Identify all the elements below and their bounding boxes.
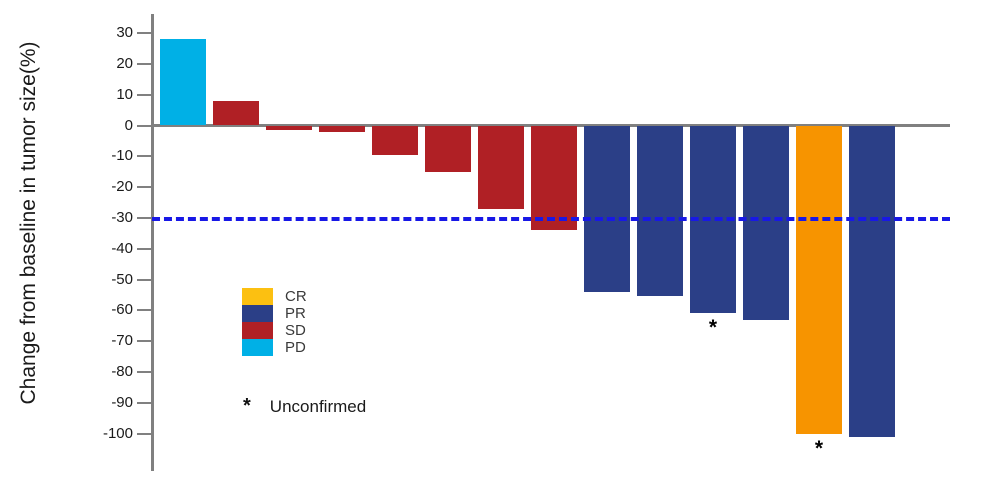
y-tick-mark bbox=[137, 340, 152, 342]
y-tick-mark bbox=[137, 217, 152, 219]
y-tick-mark bbox=[137, 279, 152, 281]
bar-sd-7 bbox=[478, 126, 524, 209]
bar-pd-1 bbox=[160, 39, 206, 125]
bar-pr-14 bbox=[849, 126, 895, 437]
y-tick-label: -90 bbox=[73, 395, 133, 410]
y-tick-label: -30 bbox=[73, 210, 133, 225]
y-tick-label: -40 bbox=[73, 241, 133, 256]
bar-cr-13 bbox=[796, 126, 842, 434]
bar-sd-2 bbox=[213, 101, 259, 126]
y-tick-label: 0 bbox=[73, 118, 133, 133]
y-tick-label: -10 bbox=[73, 148, 133, 163]
y-tick-label: 20 bbox=[73, 56, 133, 71]
legend-item-cr[interactable]: CR bbox=[242, 288, 307, 305]
footnote-label: Unconfirmed bbox=[270, 398, 366, 415]
legend-label-pd: PD bbox=[285, 340, 306, 355]
y-tick-label: 10 bbox=[73, 87, 133, 102]
y-tick-label: -100 bbox=[73, 426, 133, 441]
legend-swatch-pd bbox=[242, 339, 273, 356]
bar-sd-3 bbox=[266, 126, 312, 131]
y-tick-mark bbox=[137, 32, 152, 34]
legend-swatch-cr bbox=[242, 288, 273, 305]
legend-item-pd[interactable]: PD bbox=[242, 339, 307, 356]
bar-pr-9 bbox=[584, 126, 630, 292]
y-tick-mark bbox=[137, 125, 152, 127]
bar-sd-6 bbox=[425, 126, 471, 172]
legend-item-pr[interactable]: PR bbox=[242, 305, 307, 322]
y-tick-mark bbox=[137, 63, 152, 65]
bar-sd-4 bbox=[319, 126, 365, 132]
legend-swatch-sd bbox=[242, 322, 273, 339]
legend-label-pr: PR bbox=[285, 306, 306, 321]
legend: CRPRSDPD bbox=[242, 288, 307, 356]
legend-item-sd[interactable]: SD bbox=[242, 322, 307, 339]
legend-swatch-pr bbox=[242, 305, 273, 322]
y-tick-label: -60 bbox=[73, 302, 133, 317]
waterfall-chart-figure: Change from baseline in tumor size(%) 30… bbox=[0, 0, 981, 486]
reference-line-minus30 bbox=[152, 217, 950, 221]
bar-sd-5 bbox=[372, 126, 418, 155]
unconfirmed-asterisk-icon: * bbox=[703, 317, 723, 338]
legend-label-cr: CR bbox=[285, 289, 307, 304]
y-tick-mark bbox=[137, 155, 152, 157]
bar-pr-12 bbox=[743, 126, 789, 320]
unconfirmed-asterisk-icon: * bbox=[809, 438, 829, 459]
y-tick-mark bbox=[137, 248, 152, 250]
y-tick-mark bbox=[137, 94, 152, 96]
bar-pr-10 bbox=[637, 126, 683, 297]
y-tick-mark bbox=[137, 371, 152, 373]
y-tick-mark bbox=[137, 402, 152, 404]
legend-label-sd: SD bbox=[285, 323, 306, 338]
y-tick-mark bbox=[137, 433, 152, 435]
y-tick-mark bbox=[137, 186, 152, 188]
y-tick-label: -50 bbox=[73, 272, 133, 287]
footnote: * Unconfirmed bbox=[243, 396, 366, 416]
bar-sd-8 bbox=[531, 126, 577, 231]
y-tick-label: -70 bbox=[73, 333, 133, 348]
y-tick-label: -80 bbox=[73, 364, 133, 379]
plot-area: 3020100-10-20-30-40-50-60-70-80-90-100 *… bbox=[0, 0, 981, 486]
asterisk-icon: * bbox=[243, 396, 251, 416]
y-tick-label: -20 bbox=[73, 179, 133, 194]
y-tick-label: 30 bbox=[73, 25, 133, 40]
y-tick-mark bbox=[137, 309, 152, 311]
